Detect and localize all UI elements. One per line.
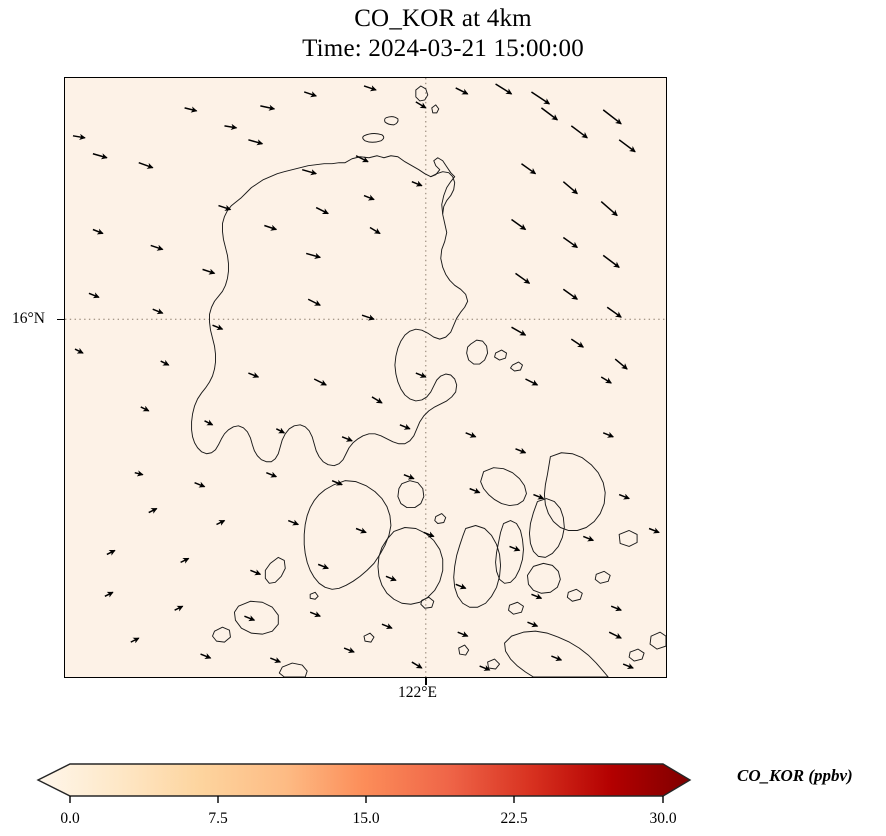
coastline-islet-east-1 [619,530,637,546]
coastline-islet-sw-1 [213,627,231,642]
longitude-axis-label: 122°E [398,684,437,702]
colorbar-tick-labels: 0.0 7.5 15.0 22.5 30.0 [0,810,886,834]
map-gridlines [65,78,666,677]
colorbar-tick-label: 30.0 [649,810,676,828]
colorbar-tick-label: 0.0 [60,810,79,828]
coastline-polillo-islet-a [495,350,507,360]
coastline-polillo [467,340,488,364]
colorbar-tick-label: 7.5 [208,810,227,828]
coastline-bohol [527,563,560,593]
coastline-panay [378,527,443,604]
colorbar-gradient-bar [38,764,690,796]
coastlines [192,86,666,677]
coastline-islet-small-c [459,645,469,655]
coastline-masbate [481,468,527,506]
coastline-samar [544,453,605,531]
map-plot-area [64,77,667,678]
coastline-islet-mid-4 [567,589,582,601]
colorbar-tick-label: 15.0 [352,810,379,828]
latitude-tick-16N [57,319,64,320]
coastline-islet-mid-2 [421,597,434,608]
latitude-axis-label: 16°N [12,310,45,328]
coastline-islet-mid-5 [595,571,610,583]
map-canvas [65,78,666,677]
coastline-busuanga [234,601,278,634]
coastline-polillo-islet-b [511,362,523,371]
colorbar-tick-label: 22.5 [500,810,527,828]
coastline-islet-north-4 [432,105,439,113]
title-line-time: Time: 2024-03-21 15:00:00 [0,34,886,64]
coastline-islet-small-a [310,592,318,599]
figure-title: CO_KOR at 4km Time: 2024-03-21 15:00:00 [0,4,886,64]
coastline-marinduque [398,481,424,508]
coastline-calamian [265,557,285,583]
coastline-leyte [529,499,564,558]
colorbar-tick-marks [70,796,663,803]
coastline-islet-small-b [364,633,374,642]
coastline-islet-sw-2 [279,663,307,677]
coastline-islet-north-2 [385,117,398,125]
coastline-luzon-northeast-cape [431,172,455,214]
coastline-mindoro [304,481,391,590]
coastline-islet-small-d [488,659,500,669]
coastline-islet-east-3 [629,649,644,661]
colorbar: 0.0 7.5 15.0 22.5 30.0 [0,752,886,836]
coastline-islet-east-2 [650,632,666,649]
colorbar-title: CO_KOR (ppbv) [737,766,853,786]
coastline-islet-mid-1 [435,514,446,524]
coastline-luzon [192,156,468,466]
coastline-islet-north-1 [363,134,384,143]
coastline-mindanao [505,631,609,677]
title-line-variable: CO_KOR at 4km [0,4,886,34]
coastline-negros [454,526,501,608]
wind-quiver-field [73,84,659,670]
coastline-islet-mid-3 [509,602,524,614]
